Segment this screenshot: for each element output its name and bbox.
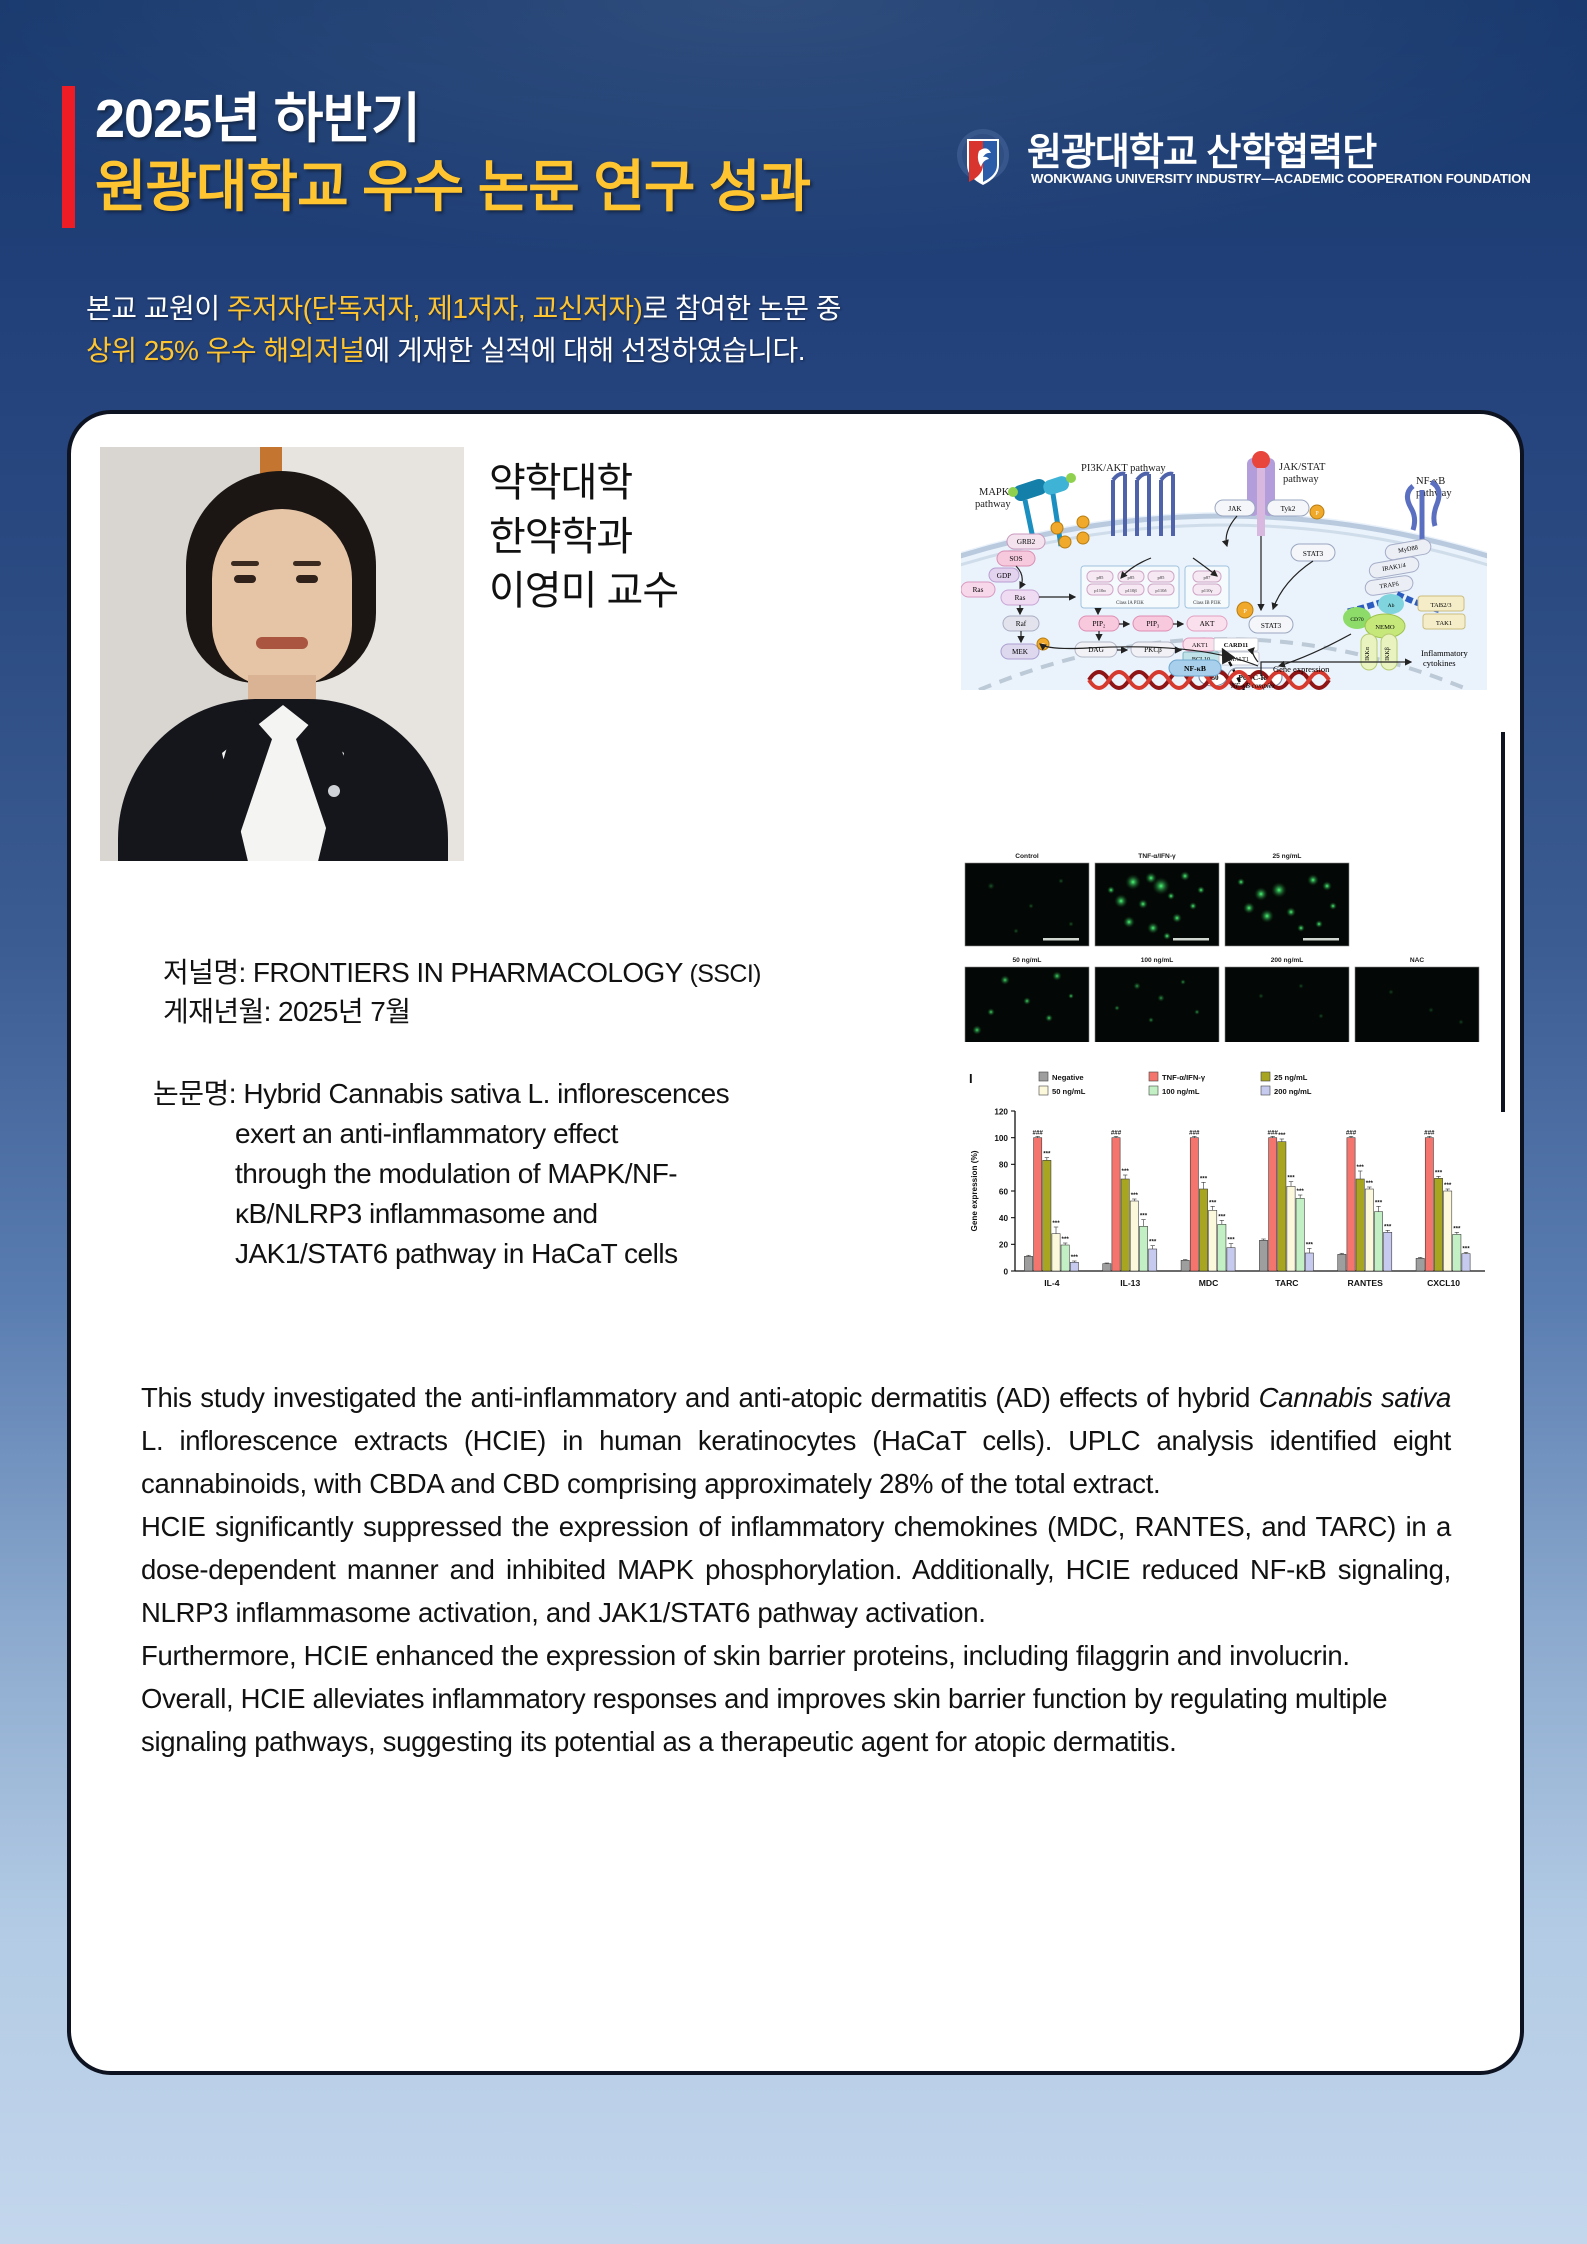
svg-text:***: *** — [1384, 1223, 1392, 1230]
svg-text:JAK: JAK — [1228, 505, 1242, 513]
micro-tile-tnf — [1095, 863, 1219, 946]
svg-text:100 ng/mL: 100 ng/mL — [1162, 1087, 1200, 1096]
red-accent-bar — [62, 86, 75, 228]
date-value: 2025년 7월 — [278, 996, 410, 1027]
svg-text:80: 80 — [999, 1161, 1009, 1170]
paper-title: 논문명: Hybrid Cannabis sativa L. infloresc… — [153, 1074, 953, 1274]
node-tab23: TAB2/3 — [1418, 596, 1464, 611]
svg-text:###: ### — [1346, 1129, 1357, 1136]
journal-line: 저널명: FRONTIERS IN PHARMACOLOGY (SSCI) — [163, 954, 761, 993]
svg-text:RANTES: RANTES — [1348, 1278, 1384, 1288]
header-title-line1: 2025년 하반기 — [95, 86, 810, 152]
svg-text:IKKβ: IKKβ — [1385, 647, 1391, 661]
micro-label-200: 200 ng/mL — [1271, 957, 1304, 964]
svg-text:***: *** — [1218, 1213, 1226, 1220]
paper-title-line4: κB/NLRP3 inflammasome and — [153, 1194, 953, 1234]
svg-text:###: ### — [1268, 1129, 1279, 1136]
svg-text:***: *** — [1131, 1192, 1139, 1199]
professor-college: 약학대학 — [489, 456, 678, 510]
svg-text:STAT3: STAT3 — [1303, 550, 1324, 558]
logo-korean-text: 원광대학교 산학협력단 — [1027, 121, 1376, 176]
svg-text:CD70: CD70 — [1350, 617, 1364, 623]
svg-text:100: 100 — [994, 1134, 1008, 1143]
svg-text:p85: p85 — [1097, 575, 1105, 580]
svg-text:Class IA PI3K: Class IA PI3K — [1116, 601, 1144, 606]
pathway-label-nfkb: NF-κB — [1416, 476, 1445, 487]
micro-tile-nac — [1355, 967, 1479, 1042]
node-grb2: GRB2 — [1007, 534, 1045, 549]
micro-label-100: 100 ng/mL — [1141, 957, 1174, 964]
figure-gene-expression-chart: 020406080100120Gene expression (%)I###**… — [961, 1059, 1495, 1299]
phospho-tyk2: P — [1310, 505, 1324, 519]
date-label: 게재년월: — [163, 996, 271, 1027]
node-stat3-top: STAT3 — [1291, 544, 1335, 561]
node-ras1: Ras — [961, 582, 995, 597]
svg-text:p87: p87 — [1204, 575, 1212, 580]
header-subtitle-line1: 본교 교원이 주저자(단독저자, 제1저자, 교신저자)로 참여한 논문 중 — [86, 288, 841, 330]
professor-photo — [100, 447, 464, 861]
svg-text:p85: p85 — [1128, 575, 1136, 580]
node-pip3: PIP₃ — [1133, 616, 1173, 631]
pathway-diagram-svg: MAPK pathway PI3K/AKT pathway JAK/STAT p… — [961, 438, 1487, 690]
svg-text:P: P — [1243, 608, 1247, 615]
vertical-divider — [1501, 732, 1505, 1112]
svg-text:MEK: MEK — [1012, 648, 1029, 656]
micro-label-control: Control — [1015, 853, 1039, 860]
svg-text:NEMO: NEMO — [1375, 624, 1395, 631]
svg-text:200 ng/mL: 200 ng/mL — [1274, 1087, 1312, 1096]
svg-text:0: 0 — [1003, 1267, 1008, 1276]
subtitle-highlight-a: 주저자(단독저자, 제1저자, 교신저자) — [227, 293, 642, 324]
svg-text:PIP₃: PIP₃ — [1147, 620, 1160, 628]
node-nfkb-dna: NF-κB — [1169, 660, 1221, 676]
svg-text:p110γ: p110γ — [1201, 588, 1212, 593]
node-ras2: Ras — [1001, 590, 1039, 605]
node-mek: MEK — [1001, 644, 1039, 659]
photo-brow-right — [293, 561, 321, 566]
professor-name: 이영미 교수 — [489, 564, 678, 618]
svg-text:IL-4: IL-4 — [1044, 1278, 1059, 1288]
svg-text:###: ### — [1189, 1129, 1200, 1136]
node-tyk2: Tyk2 — [1267, 500, 1309, 516]
abstract-p1-b: L. inflorescence extracts (HCIE) in huma… — [141, 1425, 1451, 1499]
svg-text:***: *** — [1052, 1220, 1060, 1227]
node-gdp: GDP — [989, 568, 1019, 582]
svg-text:Ras: Ras — [1015, 594, 1026, 602]
paper-title-line1: Hybrid Cannabis sativa L. inflorescences — [243, 1078, 729, 1109]
node-class1b-pi3k: p87p110γ Class IB PI3K — [1185, 566, 1229, 608]
micro-label-25: 25 ng/mL — [1273, 853, 1302, 860]
abstract-p1-emphasis: Cannabis sativa — [1259, 1382, 1451, 1413]
svg-text:CARD11: CARD11 — [1224, 642, 1249, 649]
svg-text:TAK1: TAK1 — [1436, 620, 1452, 627]
page-header: 2025년 하반기 원광대학교 우수 논문 연구 성과 본교 교원이 주저자(단… — [0, 0, 1587, 400]
svg-text:AKT: AKT — [1200, 620, 1215, 628]
professor-info: 약학대학 한약학과 이영미 교수 — [489, 456, 678, 618]
node-raf: Raf — [1003, 616, 1039, 631]
university-logo: 원광대학교 산학협력단 WONKWANG UNIVERSITY INDUSTRY… — [955, 123, 1535, 197]
subtitle-highlight-b: 상위 25% 우수 해외저널 — [86, 335, 364, 366]
svg-text:60: 60 — [999, 1187, 1009, 1196]
photo-eye-left — [234, 575, 256, 583]
abstract-paragraph-1: This study investigated the anti-inflamm… — [141, 1376, 1451, 1505]
svg-text:###: ### — [1111, 1129, 1122, 1136]
journal-name: FRONTIERS IN PHARMACOLOGY — [253, 957, 682, 988]
svg-text:IKKα: IKKα — [1365, 646, 1371, 661]
svg-text:***: *** — [1122, 1168, 1130, 1175]
svg-text:***: *** — [1071, 1254, 1079, 1261]
svg-text:***: *** — [1435, 1169, 1443, 1176]
svg-text:***: *** — [1453, 1225, 1461, 1232]
university-crest-icon — [955, 127, 1011, 189]
svg-text:NF-κB complex: NF-κB complex — [1230, 682, 1276, 690]
professor-department: 한약학과 — [489, 510, 678, 564]
photo-mouth — [256, 637, 308, 649]
photo-eye-right — [296, 575, 318, 583]
date-line: 게재년월: 2025년 7월 — [163, 993, 761, 1030]
header-subtitle: 본교 교원이 주저자(단독저자, 제1저자, 교신저자)로 참여한 논문 중 상… — [86, 288, 841, 372]
header-subtitle-line2: 상위 25% 우수 해외저널에 게재한 실적에 대해 선정하였습니다. — [86, 330, 841, 372]
paper-title-label: 논문명: — [153, 1078, 236, 1109]
journal-label: 저널명: — [163, 957, 246, 988]
svg-text:50 ng/mL: 50 ng/mL — [1052, 1087, 1086, 1096]
phospho-mek: P — [1037, 638, 1049, 650]
svg-text:TARC: TARC — [1275, 1278, 1298, 1288]
node-card11: CARD11 — [1214, 638, 1258, 651]
node-tak1: TAK1 — [1423, 614, 1465, 629]
bar-chart-svg: 020406080100120Gene expression (%)I###**… — [961, 1059, 1495, 1299]
micro-tile-100 — [1095, 967, 1219, 1042]
svg-text:TAB2/3: TAB2/3 — [1430, 602, 1452, 609]
svg-text:***: *** — [1357, 1164, 1365, 1171]
svg-text:Class IB PI3K: Class IB PI3K — [1193, 601, 1221, 606]
svg-text:***: *** — [1287, 1175, 1295, 1182]
node-dag: DAG — [1075, 642, 1117, 657]
svg-text:p110δ: p110δ — [1155, 588, 1166, 593]
phospho-stat3: P — [1237, 602, 1253, 618]
svg-text:***: *** — [1297, 1188, 1305, 1195]
svg-text:MDC: MDC — [1199, 1278, 1219, 1288]
subtitle-text-b: 로 참여한 논문 중 — [642, 293, 841, 324]
svg-text:Tyk2: Tyk2 — [1281, 505, 1296, 513]
micro-tile-200 — [1225, 967, 1349, 1042]
svg-text:***: *** — [1366, 1180, 1374, 1187]
svg-text:STAT3: STAT3 — [1261, 622, 1282, 630]
abstract-p1-a: This study investigated the anti-inflamm… — [141, 1382, 1259, 1413]
svg-text:***: *** — [1140, 1213, 1148, 1220]
svg-text:I: I — [969, 1071, 973, 1086]
svg-text:CXCL10: CXCL10 — [1427, 1278, 1460, 1288]
figure-signaling-pathway: MAPK pathway PI3K/AKT pathway JAK/STAT p… — [961, 438, 1487, 690]
journal-index: (SSCI) — [689, 960, 760, 988]
content-card: 약학대학 한약학과 이영미 교수 MAPK pathway PI3K/AKT p… — [67, 410, 1524, 2075]
pathway-label-mapk2: pathway — [975, 499, 1011, 510]
abstract-section: This study investigated the anti-inflamm… — [81, 1376, 1511, 1763]
svg-text:Gene expression: Gene expression — [1273, 664, 1330, 674]
node-stat3-bottom: STAT3 — [1249, 616, 1293, 633]
svg-text:Negative: Negative — [1052, 1073, 1084, 1082]
micro-label-tnf: TNF-α/IFN-γ — [1138, 853, 1176, 860]
svg-text:GRB2: GRB2 — [1017, 538, 1036, 546]
svg-text:cytokines: cytokines — [1423, 658, 1456, 668]
svg-text:120: 120 — [994, 1107, 1008, 1116]
svg-text:***: *** — [1306, 1241, 1314, 1248]
svg-text:###: ### — [1033, 1129, 1044, 1136]
logo-english-text: WONKWANG UNIVERSITY INDUSTRY—ACADEMIC CO… — [1031, 171, 1531, 186]
abstract-paragraph-4: Overall, HCIE alleviates inflammatory re… — [141, 1677, 1451, 1763]
abstract-paragraph-3: Furthermore, HCIE enhanced the expressio… — [141, 1634, 1451, 1677]
subtitle-text-c: 에 게재한 실적에 대해 선정하였습니다. — [364, 335, 805, 366]
pathway-label-jakstat: JAK/STAT — [1279, 462, 1326, 473]
svg-text:***: *** — [1209, 1199, 1217, 1206]
paper-title-row1: 논문명: Hybrid Cannabis sativa L. infloresc… — [153, 1074, 953, 1114]
pathway-label-jakstat2: pathway — [1283, 474, 1319, 485]
svg-text:TNF-α/IFN-γ: TNF-α/IFN-γ — [1162, 1073, 1206, 1082]
svg-text:20: 20 — [999, 1241, 1009, 1250]
svg-text:p110α: p110α — [1094, 588, 1106, 593]
node-pip2: PIP₂ — [1079, 616, 1119, 631]
svg-text:Inflammatory: Inflammatory — [1421, 648, 1468, 658]
svg-text:PIP₂: PIP₂ — [1093, 620, 1106, 628]
node-ikkb: IKKβ — [1381, 634, 1397, 670]
header-title-block: 2025년 하반기 원광대학교 우수 논문 연구 성과 — [62, 86, 810, 222]
svg-text:###: ### — [1424, 1129, 1435, 1136]
micro-tile-50 — [965, 967, 1089, 1042]
micro-label-nac: NAC — [1410, 957, 1425, 964]
photo-brow-left — [231, 561, 259, 566]
microscopy-svg: Control TNF-α/IFN-γ 25 ng/mL 50 ng/mL 10… — [961, 846, 1487, 1042]
svg-text:***: *** — [1375, 1199, 1383, 1206]
svg-text:Ab: Ab — [1388, 603, 1395, 609]
svg-text:***: *** — [1462, 1245, 1470, 1252]
micro-tile-25 — [1225, 863, 1349, 946]
node-sos: SOS — [997, 551, 1035, 566]
svg-text:Ras: Ras — [973, 586, 984, 594]
svg-text:IL-13: IL-13 — [1120, 1278, 1140, 1288]
svg-text:***: *** — [1444, 1182, 1452, 1189]
abstract-paragraph-2: HCIE significantly suppressed the expres… — [141, 1505, 1451, 1634]
svg-text:25 ng/mL: 25 ng/mL — [1274, 1073, 1308, 1082]
svg-text:***: *** — [1227, 1237, 1235, 1244]
svg-text:Gene expression (%): Gene expression (%) — [970, 1150, 979, 1231]
pathway-label-mapk: MAPK — [979, 487, 1010, 498]
micro-label-50: 50 ng/mL — [1013, 957, 1042, 964]
svg-text:GDP: GDP — [997, 572, 1011, 580]
svg-text:AKT1: AKT1 — [1192, 642, 1208, 649]
svg-text:SOS: SOS — [1009, 555, 1022, 563]
svg-text:p110β: p110β — [1125, 588, 1137, 593]
svg-text:***: *** — [1062, 1236, 1070, 1243]
node-jak: JAK — [1215, 500, 1255, 516]
paper-title-line3: through the modulation of MAPK/NF- — [153, 1154, 953, 1194]
micro-tile-control — [965, 863, 1089, 946]
svg-text:40: 40 — [999, 1214, 1009, 1223]
node-ikka: IKKα — [1361, 634, 1377, 670]
paper-title-line5: JAK1/STAT6 pathway in HaCaT cells — [153, 1234, 953, 1274]
svg-text:***: *** — [1043, 1151, 1051, 1158]
svg-text:NF-κB: NF-κB — [1184, 664, 1206, 673]
node-class1a-pi3k: p85p110α p85p110β p85p110δ Class IA PI3K — [1081, 566, 1179, 608]
svg-text:Raf: Raf — [1016, 620, 1027, 628]
node-akt: AKT — [1187, 616, 1227, 631]
svg-text:p85: p85 — [1158, 575, 1166, 580]
photo-face — [212, 509, 352, 687]
header-title-line2: 원광대학교 우수 논문 연구 성과 — [95, 152, 810, 222]
svg-text:***: *** — [1278, 1132, 1286, 1139]
paper-title-line2: exert an anti-inflammatory effect — [153, 1114, 953, 1154]
photo-lapel-pin — [328, 785, 340, 797]
node-akt1: AKT1 — [1183, 638, 1217, 651]
node-ab: Ab — [1378, 594, 1404, 614]
node-pkcb: PKCβ — [1131, 642, 1175, 657]
subtitle-text-a: 본교 교원이 — [86, 293, 227, 324]
journal-info: 저널명: FRONTIERS IN PHARMACOLOGY (SSCI) 게재… — [163, 954, 761, 1030]
figure-microscopy: Control TNF-α/IFN-γ 25 ng/mL 50 ng/mL 10… — [961, 846, 1487, 1042]
svg-text:***: *** — [1149, 1239, 1157, 1246]
svg-text:***: *** — [1200, 1175, 1208, 1182]
